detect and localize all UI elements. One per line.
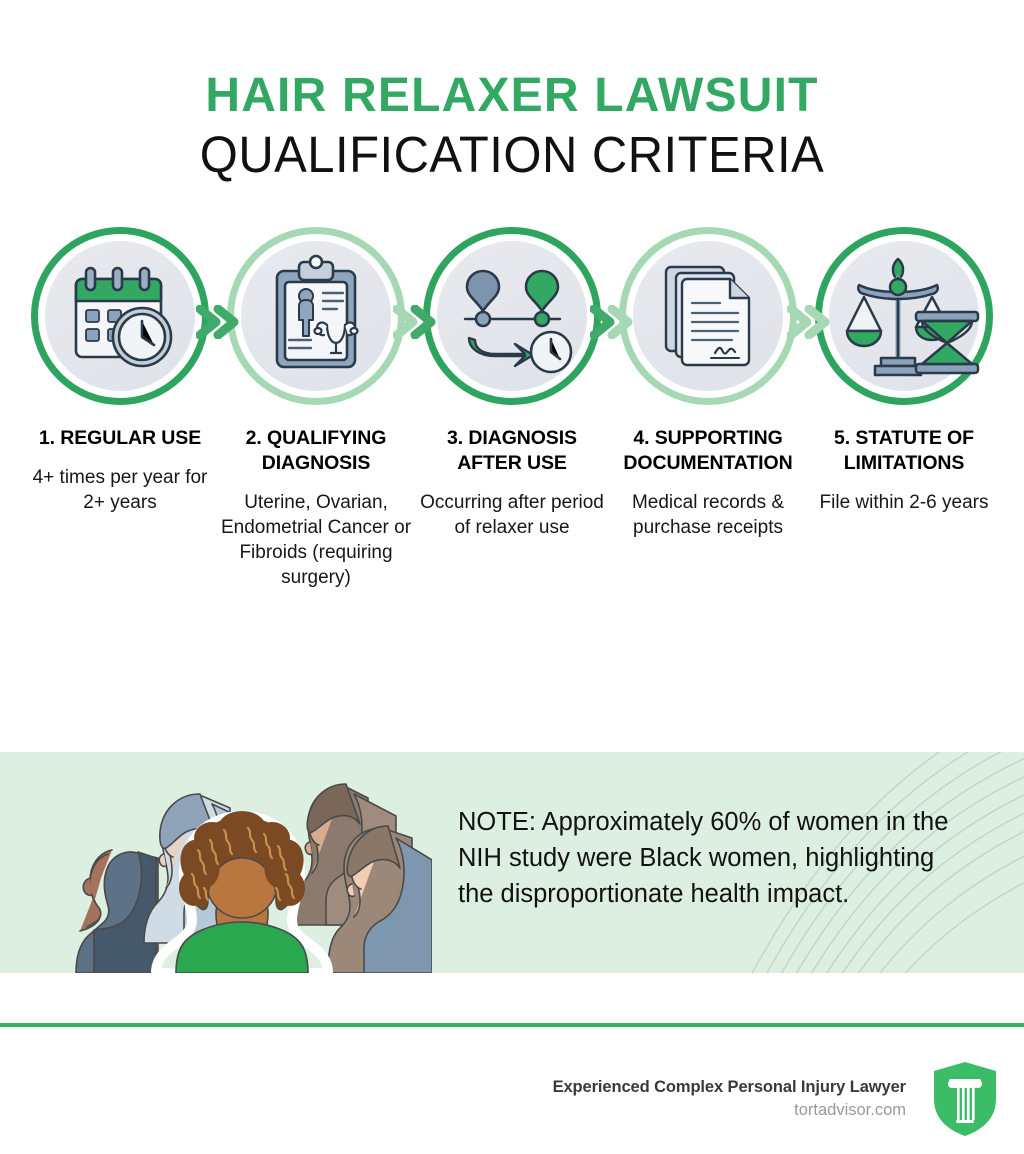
timeline-clock-icon [423,227,601,405]
footer-text-block: Experienced Complex Personal Injury Lawy… [553,1078,906,1120]
calendar-clock-icon [31,227,209,405]
scales-hourglass-icon [815,227,993,405]
step-1-circle [31,227,209,405]
step-2-title: 2. QUALIFYING DIAGNOSIS [218,426,414,476]
documents-stack-icon [619,227,797,405]
step-3-diagnosis-after-use: 3. DIAGNOSIS AFTER USE Occurring after p… [414,227,610,591]
step-arrow-1-to-2 [196,305,240,339]
diverse-women-group-illustration [52,758,432,973]
step-arrow-2-to-3 [393,305,437,339]
step-3-circle [423,227,601,405]
step-arrow-4-to-5 [787,305,831,339]
step-2-qualifying-diagnosis: 2. QUALIFYING DIAGNOSIS Uterine, Ovarian… [218,227,414,591]
footer-tagline: Experienced Complex Personal Injury Lawy… [553,1078,906,1097]
step-1-desc: 4+ times per year for 2+ years [22,465,218,516]
step-1-regular-use: 1. REGULAR USE 4+ times per year for 2+ … [22,227,218,591]
footer-divider [0,1023,1024,1027]
step-4-title: 4. SUPPORTING DOCUMENTATION [610,426,806,476]
step-5-desc: File within 2-6 years [806,490,1002,515]
criteria-steps: 1. REGULAR USE 4+ times per year for 2+ … [0,227,1024,591]
step-4-circle [619,227,797,405]
step-5-title: 5. STATUTE OF LIMITATIONS [806,426,1002,476]
step-3-desc: Occurring after period of relaxer use [414,490,610,541]
step-1-title: 1. REGULAR USE [22,426,218,451]
step-2-desc: Uterine, Ovarian, Endometrial Cancer or … [218,490,414,591]
title-line-1: HAIR RELAXER LAWSUIT [0,72,1024,121]
clipboard-medical-icon [227,227,405,405]
step-2-circle [227,227,405,405]
footer: Experienced Complex Personal Injury Lawy… [0,1060,1024,1138]
note-band: NOTE: Approximately 60% of women in the … [0,752,1024,973]
title-line-2: QUALIFICATION CRITERIA [20,126,1003,183]
step-3-title: 3. DIAGNOSIS AFTER USE [414,426,610,476]
shield-column-logo [928,1060,1002,1138]
footer-website[interactable]: tortadvisor.com [553,1101,906,1120]
step-4-supporting-documentation: 4. SUPPORTING DOCUMENTATION Medical reco… [610,227,806,591]
note-text: NOTE: Approximately 60% of women in the … [458,804,958,913]
step-5-circle [815,227,993,405]
step-arrow-3-to-4 [590,305,634,339]
step-5-statute-of-limitations: 5. STATUTE OF LIMITATIONS File within 2-… [806,227,1002,591]
step-4-desc: Medical records & purchase receipts [610,490,806,541]
page-title: HAIR RELAXER LAWSUIT QUALIFICATION CRITE… [0,0,1024,183]
